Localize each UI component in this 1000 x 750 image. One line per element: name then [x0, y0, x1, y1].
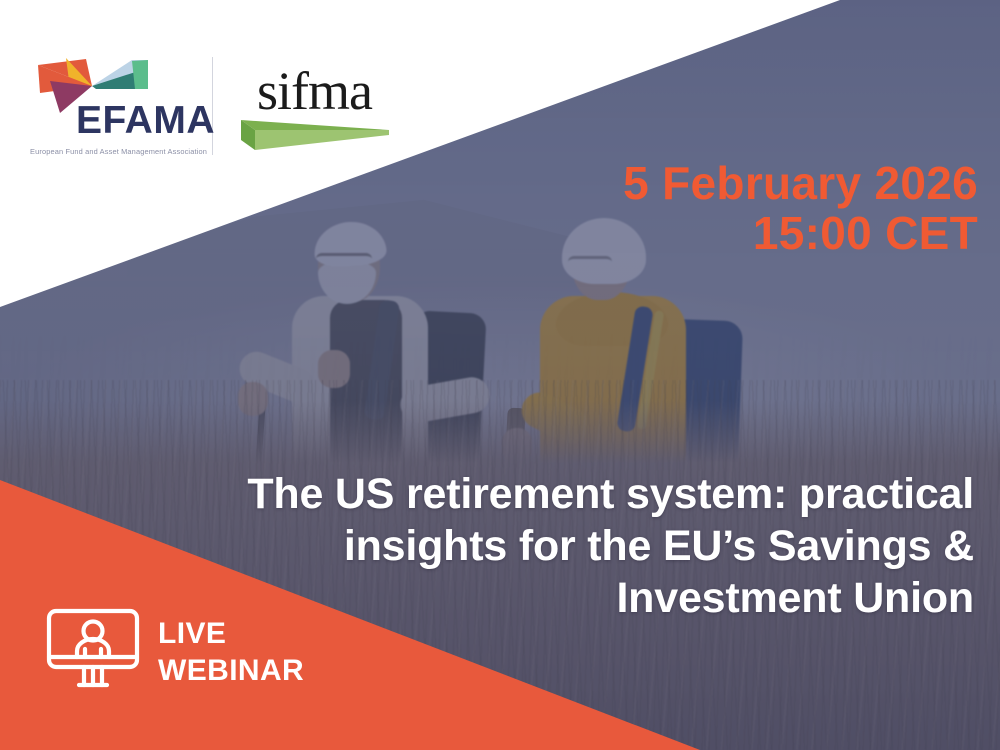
webinar-label: WEBINAR: [158, 653, 304, 690]
live-webinar-label: LIVE WEBINAR: [158, 616, 304, 689]
live-webinar-badge: LIVE WEBINAR: [46, 607, 304, 699]
live-label: LIVE: [158, 616, 304, 653]
sifma-wordmark: sifma: [257, 64, 372, 118]
webinar-schedule: 5 February 2026 15:00 CET: [623, 158, 978, 258]
sifma-logo[interactable]: sifma: [241, 58, 391, 153]
webinar-date: 5 February 2026: [623, 158, 978, 208]
webinar-title-line-1: The US retirement system: practical: [154, 468, 974, 520]
monitor-presenter-icon: [46, 607, 144, 699]
efama-logo[interactable]: EFAMA European Fund and Asset Management…: [28, 55, 198, 156]
efama-tagline: European Fund and Asset Management Assoc…: [30, 147, 198, 156]
webinar-time: 15:00 CET: [623, 208, 978, 258]
logo-lockup: EFAMA European Fund and Asset Management…: [28, 55, 391, 156]
webinar-title: The US retirement system: practical insi…: [154, 468, 974, 624]
webinar-banner: EFAMA European Fund and Asset Management…: [0, 0, 1000, 750]
webinar-title-line-2: insights for the EU’s Savings &: [154, 520, 974, 572]
sifma-green-wedge-icon: [241, 116, 389, 150]
efama-butterfly-mark-icon: [36, 55, 151, 117]
